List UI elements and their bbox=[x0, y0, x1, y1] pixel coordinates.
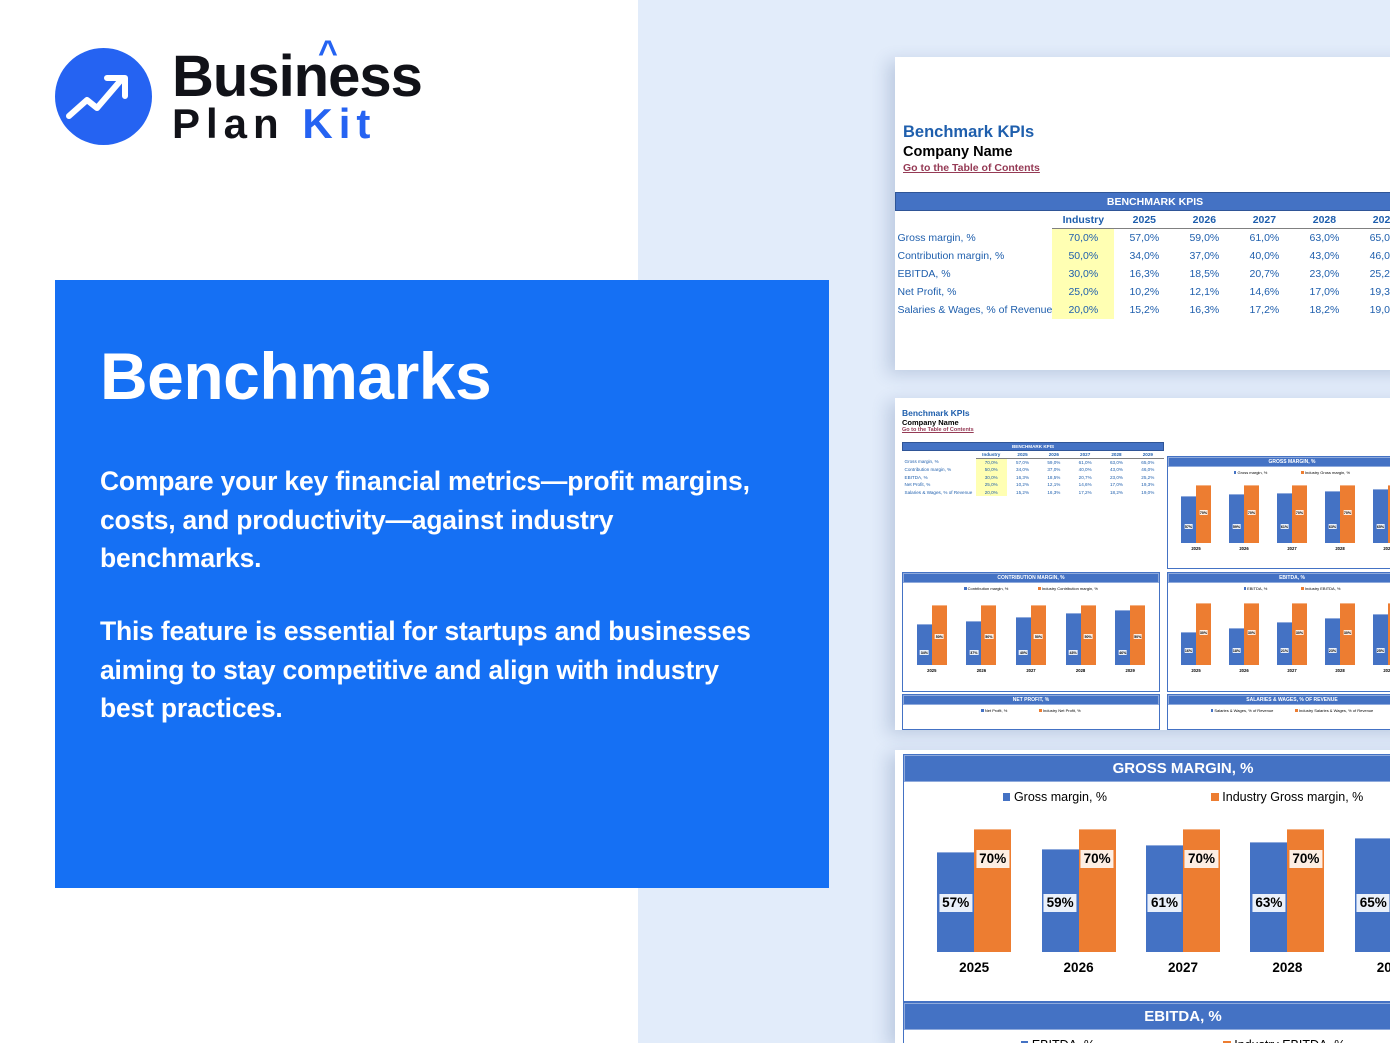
sheet-company-name: Company Name bbox=[903, 144, 1390, 160]
data-label: 37% bbox=[970, 650, 979, 655]
legend-swatch-icon bbox=[1003, 793, 1011, 801]
table-header-row: Industry20252026202720282029 bbox=[896, 211, 1390, 229]
table-row: Gross margin, %70,0%57,0%59,0%61,0%63,0%… bbox=[896, 229, 1390, 247]
chart-legend: Salaries & Wages, % of RevenueIndustry S… bbox=[1168, 705, 1390, 715]
legend-label: Industry Net Profit, % bbox=[1043, 708, 1081, 713]
column-header-2026: 2026 bbox=[1174, 211, 1234, 229]
value-cell: 18,5% bbox=[1038, 473, 1069, 481]
chart-net-profit-mini[interactable]: NET PROFIT, %Net Profit, %Industry Net P… bbox=[902, 694, 1160, 730]
value-cell: 19,3% bbox=[1354, 283, 1390, 301]
value-cell: 59,0% bbox=[1174, 229, 1234, 247]
column-header-industry: Industry bbox=[976, 450, 1007, 458]
data-label: 57% bbox=[939, 894, 972, 912]
bar-industry: 30% bbox=[1292, 603, 1307, 665]
x-axis-tick-label: 2029 bbox=[1115, 668, 1145, 673]
industry-benchmark-cell[interactable]: 50,0% bbox=[976, 466, 1007, 474]
data-label: 34% bbox=[920, 650, 929, 655]
chart-title: EBITDA, % bbox=[1168, 573, 1390, 583]
value-cell: 17,0% bbox=[1294, 283, 1354, 301]
legend-item[interactable]: Industry Gross margin, % bbox=[1211, 790, 1363, 804]
data-label: 50% bbox=[1084, 634, 1093, 639]
chart-plot-area: 57%70%59%70%61%70%63%70%65%70% bbox=[1168, 477, 1390, 543]
legend-item[interactable]: Industry EBITDA, % bbox=[1223, 1038, 1345, 1043]
value-cell: 15,2% bbox=[1114, 301, 1174, 319]
table-row: Contribution margin, %50,0%34,0%37,0%40,… bbox=[903, 466, 1164, 474]
legend-label: Contribution margin, % bbox=[968, 586, 1009, 591]
value-cell: 10,2% bbox=[1007, 481, 1038, 489]
legend-label: Salaries & Wages, % of Revenue bbox=[1214, 708, 1273, 713]
value-cell: 61,0% bbox=[1234, 229, 1294, 247]
bar-company: 25% bbox=[1373, 614, 1388, 665]
table-corner-cell bbox=[896, 211, 1053, 229]
data-label: 70% bbox=[1295, 510, 1304, 515]
data-label: 61% bbox=[1280, 524, 1289, 529]
chart-plot-area: 16%30%18%30%21%30%23%30%25%30% bbox=[1168, 593, 1390, 665]
value-cell: 63,0% bbox=[1101, 458, 1132, 466]
hero-paragraph-1: Compare your key financial metrics—profi… bbox=[100, 462, 769, 578]
value-cell: 34,0% bbox=[1007, 466, 1038, 474]
legend-item[interactable]: Industry Net Profit, % bbox=[1039, 708, 1080, 713]
chart-title: SALARIES & WAGES, % OF REVENUE bbox=[1168, 695, 1390, 705]
data-label: 18% bbox=[1232, 648, 1241, 653]
data-label: 59% bbox=[1044, 894, 1077, 912]
row-label: Salaries & Wages, % of Revenue bbox=[896, 301, 1053, 319]
data-label: 30% bbox=[1343, 630, 1352, 635]
x-axis-tick-label: 2026 bbox=[1229, 668, 1259, 673]
column-header-2029: 2029 bbox=[1354, 211, 1390, 229]
value-cell: 25,2% bbox=[1132, 473, 1163, 481]
chart-plot-area: 57%70%59%70%61%70%63%70%65%70% bbox=[904, 812, 1390, 952]
chart-x-axis: 20252026202720282029 bbox=[1168, 543, 1390, 551]
hero-card: Benchmarks Compare your key financial me… bbox=[55, 280, 829, 888]
brand-name-line2: Plan Kit bbox=[172, 104, 422, 144]
bar-company: 65% bbox=[1373, 489, 1388, 543]
bar-company: 16% bbox=[1181, 632, 1196, 665]
row-label: EBITDA, % bbox=[896, 265, 1053, 283]
value-cell: 23,0% bbox=[1101, 473, 1132, 481]
industry-benchmark-cell[interactable]: 20,0% bbox=[1052, 301, 1114, 319]
value-cell: 16,3% bbox=[1114, 265, 1174, 283]
bar-company: 57% bbox=[937, 852, 974, 952]
value-cell: 18,2% bbox=[1101, 488, 1132, 496]
spreadsheet-card-kpi-table[interactable]: Benchmark KPIs Company Name Go to the Ta… bbox=[895, 57, 1390, 370]
column-header-2025: 2025 bbox=[1114, 211, 1174, 229]
table-band-row: BENCHMARK KPIS bbox=[896, 193, 1390, 211]
table-row: Net Profit, %25,0%10,2%12,1%14,6%17,0%19… bbox=[896, 283, 1390, 301]
bar-group: 34%50% bbox=[917, 605, 947, 665]
legend-item[interactable]: Net Profit, % bbox=[981, 708, 1007, 713]
value-cell: 46,0% bbox=[1354, 247, 1390, 265]
column-header-2027: 2027 bbox=[1234, 211, 1294, 229]
legend-label: EBITDA, % bbox=[1032, 1038, 1095, 1043]
table-band-title: BENCHMARK KPIS bbox=[903, 443, 1164, 451]
legend-item[interactable]: Contribution margin, % bbox=[964, 586, 1008, 591]
legend-swatch-icon bbox=[1039, 709, 1041, 711]
data-label: 70% bbox=[1199, 510, 1208, 515]
value-cell: 19,3% bbox=[1132, 481, 1163, 489]
legend-label: Gross margin, % bbox=[1014, 790, 1107, 804]
chart-title: EBITDA, % bbox=[904, 1003, 1390, 1030]
value-cell: 40,0% bbox=[1234, 247, 1294, 265]
x-axis-tick-label: 2025 bbox=[937, 960, 1011, 975]
bar-company: 34% bbox=[917, 624, 932, 665]
legend-label: Industry Contribution margin, % bbox=[1042, 586, 1098, 591]
row-label: EBITDA, % bbox=[903, 473, 976, 481]
bar-group: 25%30% bbox=[1373, 603, 1390, 665]
value-cell: 46,0% bbox=[1132, 466, 1163, 474]
data-label: 65% bbox=[1376, 524, 1385, 529]
industry-benchmark-cell[interactable]: 30,0% bbox=[1052, 265, 1114, 283]
bar-company: 63% bbox=[1325, 491, 1340, 543]
industry-benchmark-cell[interactable]: 25,0% bbox=[1052, 283, 1114, 301]
value-cell: 14,6% bbox=[1234, 283, 1294, 301]
sheet-title: Benchmark KPIs bbox=[902, 408, 1390, 418]
data-label: 30% bbox=[1247, 630, 1256, 635]
bar-industry: 70% bbox=[1183, 829, 1220, 952]
x-axis-tick-label: 2027 bbox=[1146, 960, 1220, 975]
chart-legend: Net Profit, %Industry Net Profit, % bbox=[903, 705, 1159, 715]
bar-industry: 50% bbox=[932, 605, 947, 665]
bar-group: 37%50% bbox=[966, 605, 996, 665]
x-axis-tick-label: 2029 bbox=[1355, 960, 1390, 975]
bar-industry: 50% bbox=[1031, 605, 1046, 665]
bar-company: 61% bbox=[1277, 493, 1292, 543]
x-axis-tick-label: 2028 bbox=[1325, 668, 1355, 673]
x-axis-tick-label: 2027 bbox=[1277, 668, 1307, 673]
chart-title: GROSS MARGIN, % bbox=[1168, 457, 1390, 467]
x-axis-tick-label: 2025 bbox=[917, 668, 947, 673]
industry-benchmark-cell[interactable]: 50,0% bbox=[1052, 247, 1114, 265]
bar-company: 23% bbox=[1325, 618, 1340, 665]
bar-company: 18% bbox=[1229, 628, 1244, 665]
data-label: 30% bbox=[1199, 630, 1208, 635]
bar-group: 16%30% bbox=[1181, 603, 1211, 665]
hero-paragraph-2: This feature is essential for startups a… bbox=[100, 612, 769, 728]
legend-swatch-icon bbox=[1244, 587, 1246, 589]
page-title: Benchmarks bbox=[100, 338, 769, 414]
legend-label: Industry Salaries & Wages, % of Revenue bbox=[1299, 708, 1373, 713]
legend-swatch-icon bbox=[1211, 793, 1219, 801]
bar-industry: 70% bbox=[974, 829, 1011, 952]
value-cell: 15,2% bbox=[1007, 488, 1038, 496]
column-header-2028: 2028 bbox=[1294, 211, 1354, 229]
bar-group: 59%70% bbox=[1229, 485, 1259, 543]
bar-group: 63%70% bbox=[1325, 485, 1355, 543]
chart-title: GROSS MARGIN, % bbox=[904, 755, 1390, 782]
row-label: Net Profit, % bbox=[896, 283, 1053, 301]
data-label: 70% bbox=[1343, 510, 1352, 515]
value-cell: 19,0% bbox=[1354, 301, 1390, 319]
value-cell: 65,0% bbox=[1354, 229, 1390, 247]
bar-group: 65%70% bbox=[1355, 829, 1390, 952]
row-label: Salaries & Wages, % of Revenue bbox=[903, 488, 976, 496]
spreadsheet-card-dashboard[interactable]: Benchmark KPIs Company Name Go to the Ta… bbox=[895, 398, 1390, 730]
bar-company: 59% bbox=[1042, 849, 1079, 952]
bar-industry: 70% bbox=[1340, 485, 1355, 543]
bar-company: 57% bbox=[1181, 496, 1196, 543]
bar-company: 40% bbox=[1016, 617, 1031, 665]
data-label: 70% bbox=[1289, 850, 1322, 868]
x-axis-tick-label: 2029 bbox=[1373, 546, 1390, 551]
bar-industry: 50% bbox=[1081, 605, 1096, 665]
column-header-2025: 2025 bbox=[1007, 450, 1038, 458]
legend-item[interactable]: EBITDA, % bbox=[1021, 1038, 1095, 1043]
x-axis-tick-label: 2025 bbox=[1181, 668, 1211, 673]
industry-benchmark-cell[interactable]: 70,0% bbox=[1052, 229, 1114, 247]
x-axis-tick-label: 2026 bbox=[966, 668, 996, 673]
value-cell: 17,2% bbox=[1234, 301, 1294, 319]
bar-industry: 50% bbox=[981, 605, 996, 665]
bar-industry: 50% bbox=[1130, 605, 1145, 665]
value-cell: 65,0% bbox=[1132, 458, 1163, 466]
data-label: 65% bbox=[1357, 894, 1390, 912]
column-header-2029: 2029 bbox=[1132, 450, 1163, 458]
data-label: 46% bbox=[1118, 650, 1127, 655]
sheet-title: Benchmark KPIs bbox=[903, 123, 1390, 142]
data-label: 70% bbox=[1081, 850, 1114, 868]
table-band-row: BENCHMARK KPIS bbox=[903, 443, 1164, 451]
bar-industry: 30% bbox=[1244, 603, 1259, 665]
legend-label: Industry Gross margin, % bbox=[1305, 470, 1350, 475]
kpi-table: BENCHMARK KPISIndustry202520262027202820… bbox=[895, 192, 1390, 319]
data-label: 63% bbox=[1252, 894, 1285, 912]
chart-legend: Gross margin, %Industry Gross margin, % bbox=[1168, 467, 1390, 477]
value-cell: 16,3% bbox=[1007, 473, 1038, 481]
value-cell: 17,2% bbox=[1070, 488, 1101, 496]
bar-group: 23%30% bbox=[1325, 603, 1355, 665]
column-header-industry: Industry bbox=[1052, 211, 1114, 229]
row-label: Gross margin, % bbox=[903, 458, 976, 466]
x-axis-tick-label: 2025 bbox=[1181, 546, 1211, 551]
x-axis-tick-label: 2027 bbox=[1277, 546, 1307, 551]
value-cell: 43,0% bbox=[1294, 247, 1354, 265]
industry-benchmark-cell[interactable]: 30,0% bbox=[976, 473, 1007, 481]
legend-label: EBITDA, % bbox=[1247, 586, 1267, 591]
bar-industry: 70% bbox=[1244, 485, 1259, 543]
bar-industry: 30% bbox=[1196, 603, 1211, 665]
bar-company: 21% bbox=[1277, 622, 1292, 665]
legend-item[interactable]: Salaries & Wages, % of Revenue bbox=[1211, 708, 1274, 713]
value-cell: 20,7% bbox=[1234, 265, 1294, 283]
table-header-row: Industry20252026202720282029 bbox=[903, 450, 1164, 458]
row-label: Contribution margin, % bbox=[896, 247, 1053, 265]
legend-item[interactable]: EBITDA, % bbox=[1244, 586, 1268, 591]
value-cell: 57,0% bbox=[1007, 458, 1038, 466]
table-row: Salaries & Wages, % of Revenue20,0%15,2%… bbox=[903, 488, 1164, 496]
chart-plot-area: 34%50%37%50%40%50%43%50%46%50% bbox=[903, 593, 1159, 665]
legend-item[interactable]: Gross margin, % bbox=[1003, 790, 1107, 804]
industry-benchmark-cell[interactable]: 70,0% bbox=[976, 458, 1007, 466]
bar-industry: 70% bbox=[1292, 485, 1307, 543]
chart-x-axis: 20252026202720282029 bbox=[1168, 665, 1390, 673]
value-cell: 18,2% bbox=[1294, 301, 1354, 319]
value-cell: 19,0% bbox=[1132, 488, 1163, 496]
bar-company: 46% bbox=[1115, 610, 1130, 665]
table-corner-cell bbox=[903, 450, 976, 458]
table-row: Net Profit, %25,0%10,2%12,1%14,6%17,0%19… bbox=[903, 481, 1164, 489]
legend-swatch-icon bbox=[1301, 587, 1303, 589]
value-cell: 18,5% bbox=[1174, 265, 1234, 283]
row-label: Gross margin, % bbox=[896, 229, 1053, 247]
chart-x-axis: 20252026202720282029 bbox=[904, 952, 1390, 975]
legend-item[interactable]: Industry Salaries & Wages, % of Revenue bbox=[1295, 708, 1373, 713]
value-cell: 23,0% bbox=[1294, 265, 1354, 283]
bar-group: 57%70% bbox=[937, 829, 1011, 952]
column-header-2026: 2026 bbox=[1038, 450, 1069, 458]
bar-company: 63% bbox=[1250, 842, 1287, 952]
chart-legend: Gross margin, %Industry Gross margin, % bbox=[904, 782, 1390, 812]
table-row: Salaries & Wages, % of Revenue20,0%15,2%… bbox=[896, 301, 1390, 319]
data-label: 23% bbox=[1328, 648, 1337, 653]
value-cell: 14,6% bbox=[1070, 481, 1101, 489]
value-cell: 63,0% bbox=[1294, 229, 1354, 247]
value-cell: 40,0% bbox=[1070, 466, 1101, 474]
sheet-header-mini: Benchmark KPIs Company Name Go to the Ta… bbox=[895, 398, 1390, 433]
value-cell: 34,0% bbox=[1114, 247, 1174, 265]
legend-label: Industry Gross margin, % bbox=[1222, 790, 1363, 804]
bar-group: 43%50% bbox=[1066, 605, 1096, 665]
bar-group: 59%70% bbox=[1042, 829, 1116, 952]
value-cell: 57,0% bbox=[1114, 229, 1174, 247]
value-cell: 20,7% bbox=[1070, 473, 1101, 481]
data-label: 43% bbox=[1069, 650, 1078, 655]
table-of-contents-link[interactable]: Go to the Table of Contents bbox=[902, 427, 1390, 433]
bar-group: 63%70% bbox=[1250, 829, 1324, 952]
data-label: 50% bbox=[1133, 634, 1142, 639]
legend-label: Net Profit, % bbox=[985, 708, 1007, 713]
value-cell: 59,0% bbox=[1038, 458, 1069, 466]
data-label: 57% bbox=[1184, 524, 1193, 529]
sheet-company-name: Company Name bbox=[902, 418, 1390, 427]
table-of-contents-link[interactable]: Go to the Table of Contents bbox=[903, 162, 1390, 174]
bar-group: 65%70% bbox=[1373, 485, 1390, 543]
value-cell: 43,0% bbox=[1101, 466, 1132, 474]
legend-item[interactable]: Industry EBITDA, % bbox=[1301, 586, 1340, 591]
bar-industry: 70% bbox=[1196, 485, 1211, 543]
data-label: 16% bbox=[1184, 648, 1193, 653]
x-axis-tick-label: 2026 bbox=[1229, 546, 1259, 551]
value-cell: 16,3% bbox=[1174, 301, 1234, 319]
data-label: 21% bbox=[1280, 648, 1289, 653]
column-header-2028: 2028 bbox=[1101, 450, 1132, 458]
legend-label: Industry EBITDA, % bbox=[1305, 586, 1341, 591]
table-row: EBITDA, %30,0%16,3%18,5%20,7%23,0%25,2% bbox=[903, 473, 1164, 481]
table-row: Gross margin, %70,0%57,0%59,0%61,0%63,0%… bbox=[903, 458, 1164, 466]
data-label: 59% bbox=[1232, 524, 1241, 529]
x-axis-tick-label: 2028 bbox=[1066, 668, 1096, 673]
industry-benchmark-cell[interactable]: 25,0% bbox=[976, 481, 1007, 489]
bar-company: 43% bbox=[1066, 613, 1081, 665]
bar-group: 46%50% bbox=[1115, 605, 1145, 665]
value-cell: 17,0% bbox=[1101, 481, 1132, 489]
legend-swatch-icon bbox=[1295, 709, 1297, 711]
bar-company: 59% bbox=[1229, 494, 1244, 543]
value-cell: 37,0% bbox=[1038, 466, 1069, 474]
column-header-2027: 2027 bbox=[1070, 450, 1101, 458]
trending-up-arrow-icon bbox=[55, 48, 152, 145]
data-label: 70% bbox=[976, 850, 1009, 868]
industry-benchmark-cell[interactable]: 20,0% bbox=[976, 488, 1007, 496]
chart-ebitda-mini[interactable]: EBITDA, %EBITDA, %Industry EBITDA, %16%3… bbox=[1167, 572, 1390, 692]
legend-swatch-icon bbox=[1301, 471, 1303, 473]
data-label: 61% bbox=[1148, 894, 1181, 912]
spreadsheet-card-gross-margin-chart[interactable]: GROSS MARGIN, %Gross margin, %Industry G… bbox=[895, 750, 1390, 1043]
value-cell: 61,0% bbox=[1070, 458, 1101, 466]
bar-group: 61%70% bbox=[1277, 485, 1307, 543]
legend-item[interactable]: Industry Gross margin, % bbox=[1301, 470, 1350, 475]
bar-company: 61% bbox=[1146, 845, 1183, 952]
value-cell: 12,1% bbox=[1038, 481, 1069, 489]
x-axis-tick-label: 2028 bbox=[1250, 960, 1324, 975]
legend-swatch-icon bbox=[1234, 471, 1236, 473]
bar-industry: 30% bbox=[1340, 603, 1355, 665]
legend-swatch-icon bbox=[981, 709, 983, 711]
chart-salaries-wages-mini[interactable]: SALARIES & WAGES, % OF REVENUESalaries &… bbox=[1167, 694, 1390, 730]
x-axis-tick-label: 2027 bbox=[1016, 668, 1046, 673]
legend-swatch-icon bbox=[1211, 709, 1213, 711]
bar-industry: 70% bbox=[1287, 829, 1324, 952]
legend-swatch-icon bbox=[964, 587, 966, 589]
data-label: 50% bbox=[985, 634, 994, 639]
chart-legend: EBITDA, %Industry EBITDA, % bbox=[904, 1030, 1390, 1043]
chart-legend: EBITDA, %Industry EBITDA, % bbox=[1168, 583, 1390, 593]
legend-item[interactable]: Industry Contribution margin, % bbox=[1038, 586, 1098, 591]
data-label: 30% bbox=[1295, 630, 1304, 635]
brand-line1-text: Business bbox=[172, 44, 422, 109]
table-row: Contribution margin, %50,0%34,0%37,0%40,… bbox=[896, 247, 1390, 265]
x-axis-tick-label: 2026 bbox=[1042, 960, 1116, 975]
table-row: EBITDA, %30,0%16,3%18,5%20,7%23,0%25,2% bbox=[896, 265, 1390, 283]
chart-contribution-margin-mini[interactable]: CONTRIBUTION MARGIN, %Contribution margi… bbox=[902, 572, 1160, 692]
value-cell: 25,2% bbox=[1354, 265, 1390, 283]
bar-group: 57%70% bbox=[1181, 485, 1211, 543]
data-label: 25% bbox=[1376, 648, 1385, 653]
chart-ebitda-large[interactable]: EBITDA, %EBITDA, %Industry EBITDA, % bbox=[903, 1002, 1390, 1043]
chart-title: CONTRIBUTION MARGIN, % bbox=[903, 573, 1159, 583]
kpi-table-mini: BENCHMARK KPISIndustry202520262027202820… bbox=[902, 442, 1164, 496]
table-band-title: BENCHMARK KPIS bbox=[896, 193, 1390, 211]
value-cell: 12,1% bbox=[1174, 283, 1234, 301]
bar-industry: 70% bbox=[1079, 829, 1116, 952]
sheet-header: Benchmark KPIs Company Name Go to the Ta… bbox=[895, 57, 1390, 174]
value-cell: 16,3% bbox=[1038, 488, 1069, 496]
caret-accent-icon: ^ bbox=[318, 37, 337, 70]
legend-item[interactable]: Gross margin, % bbox=[1234, 470, 1267, 475]
legend-label: Gross margin, % bbox=[1238, 470, 1268, 475]
value-cell: 37,0% bbox=[1174, 247, 1234, 265]
chart-x-axis: 20252026202720282029 bbox=[903, 665, 1159, 673]
bar-group: 21%30% bbox=[1277, 603, 1307, 665]
data-label: 70% bbox=[1185, 850, 1218, 868]
bar-group: 18%30% bbox=[1229, 603, 1259, 665]
bar-group: 40%50% bbox=[1016, 605, 1046, 665]
data-label: 50% bbox=[1034, 634, 1043, 639]
value-cell: 10,2% bbox=[1114, 283, 1174, 301]
brand-name-line1: Business ^ bbox=[172, 49, 422, 105]
legend-label: Industry EBITDA, % bbox=[1234, 1038, 1345, 1043]
data-label: 50% bbox=[935, 634, 944, 639]
row-label: Contribution margin, % bbox=[903, 466, 976, 474]
bar-group: 61%70% bbox=[1146, 829, 1220, 952]
bar-company: 65% bbox=[1355, 838, 1390, 952]
chart-gross-margin-mini[interactable]: GROSS MARGIN, %Gross margin, %Industry G… bbox=[1167, 456, 1390, 569]
chart-gross-margin-large[interactable]: GROSS MARGIN, %Gross margin, %Industry G… bbox=[903, 754, 1390, 1002]
brand-logo: Business ^ Plan Kit bbox=[55, 48, 422, 145]
legend-swatch-icon bbox=[1038, 587, 1040, 589]
data-label: 40% bbox=[1019, 650, 1028, 655]
bar-company: 37% bbox=[966, 621, 981, 665]
x-axis-tick-label: 2028 bbox=[1325, 546, 1355, 551]
